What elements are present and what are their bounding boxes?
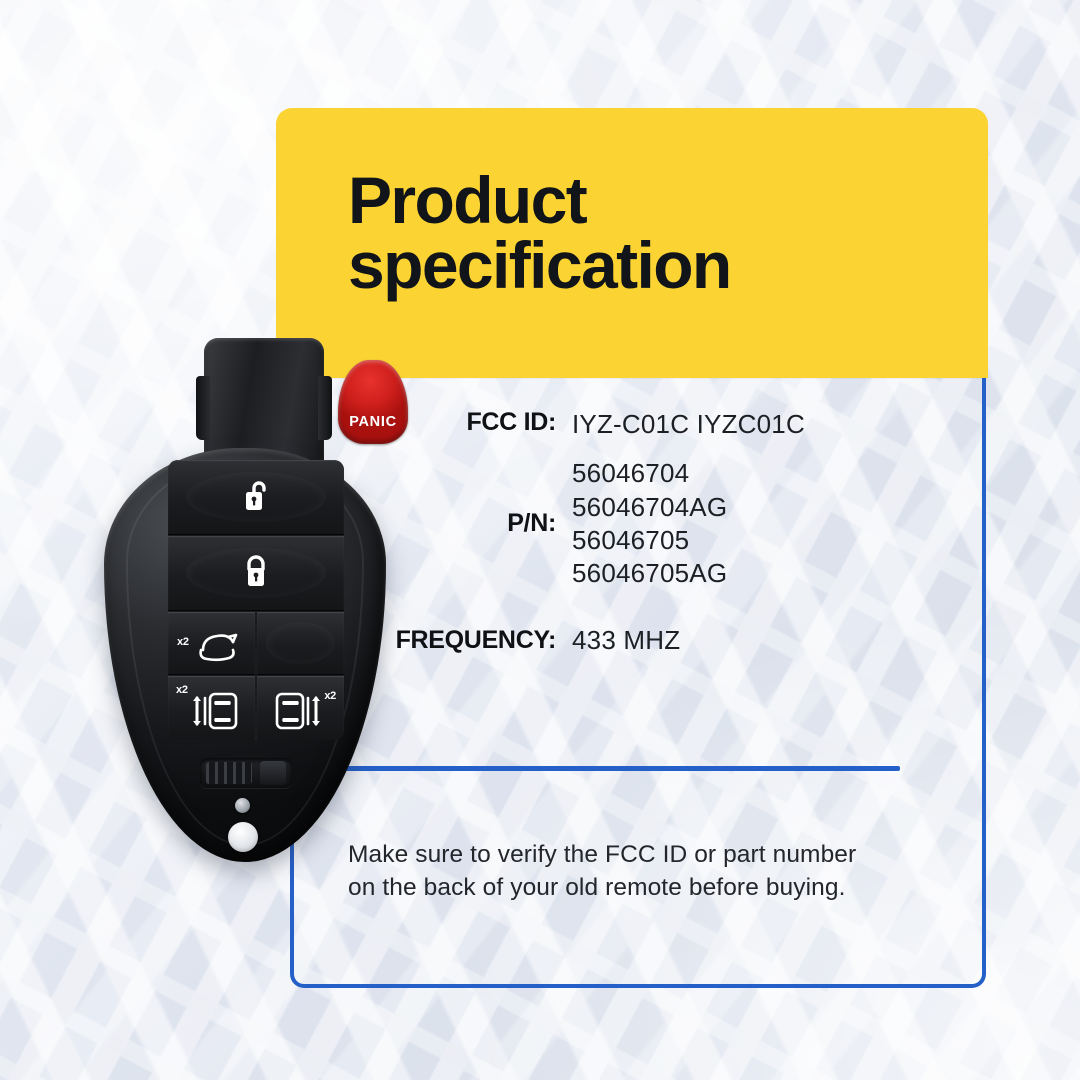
spec-row-frequency: FREQUENCY: 433 MHZ <box>380 624 960 657</box>
spec-row-part-number: P/N: 56046704 56046704AG 56046705 560467… <box>380 457 960 590</box>
indicator-led <box>235 798 250 813</box>
liftgate-icon <box>189 620 243 666</box>
spec-value-frequency: 433 MHZ <box>572 624 680 657</box>
unlock-icon <box>241 479 271 515</box>
stem-notch-left <box>196 376 210 440</box>
part-number-item: 56046704AG <box>572 491 727 524</box>
door-left-multiplier-label: x2 <box>176 684 188 696</box>
key-fob-button-pad: x2 x2 <box>168 460 344 740</box>
emergency-key-slider[interactable] <box>200 758 292 788</box>
liftgate-button[interactable]: x2 <box>168 612 255 674</box>
panic-button[interactable]: PANIC <box>338 360 408 444</box>
spec-row-fcc-id: FCC ID: IYZ-C01C IYZC01C <box>380 408 960 441</box>
sliding-door-left-button[interactable]: x2 <box>168 676 255 740</box>
lock-button[interactable] <box>168 536 344 610</box>
key-fob-image: PANIC <box>96 336 396 866</box>
part-number-item: 56046704 <box>572 457 727 490</box>
slider-ridges <box>206 762 252 784</box>
spec-label-part-number: P/N: <box>380 509 572 538</box>
key-ring-hole <box>228 822 258 852</box>
specification-list: FCC ID: IYZ-C01C IYZC01C P/N: 56046704 5… <box>380 408 960 664</box>
blue-divider-line <box>330 766 900 771</box>
slider-knob[interactable] <box>260 761 286 785</box>
blue-right-edge <box>982 370 986 450</box>
part-number-item: 56046705AG <box>572 557 727 590</box>
unlock-button[interactable] <box>168 460 344 534</box>
product-specification-card: Product specification FCC ID: IYZ-C01C I… <box>0 0 1080 1080</box>
spec-value-part-number: 56046704 56046704AG 56046705 56046705AG <box>572 457 727 590</box>
button-arc <box>266 622 336 664</box>
verification-note: Make sure to verify the FCC ID or part n… <box>348 838 948 904</box>
sliding-door-right-button[interactable]: x2 <box>257 676 344 740</box>
spec-label-frequency: FREQUENCY: <box>380 626 572 655</box>
panic-button-label: PANIC <box>338 414 408 430</box>
part-number-item: 56046705 <box>572 524 727 557</box>
key-fob-top-stem: PANIC <box>204 338 324 466</box>
liftgate-multiplier-label: x2 <box>177 636 189 648</box>
sliding-door-left-icon <box>188 688 246 734</box>
spec-label-fcc-id: FCC ID: <box>380 408 572 437</box>
spec-value-fcc-id: IYZ-C01C IYZC01C <box>572 408 805 441</box>
stem-notch-right <box>318 376 332 440</box>
door-right-multiplier-label: x2 <box>324 690 336 702</box>
page-title: Product specification <box>348 168 968 297</box>
lock-icon <box>243 555 269 591</box>
sliding-door-right-icon <box>267 688 325 734</box>
blank-button[interactable] <box>257 612 344 674</box>
